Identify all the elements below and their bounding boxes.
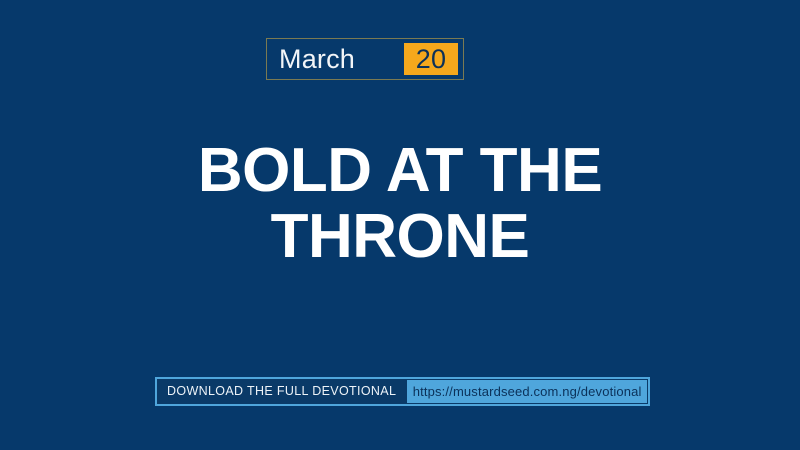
download-banner-label: DOWNLOAD THE FULL DEVOTIONAL xyxy=(157,379,407,404)
devotional-title-slide: March 20 BOLD AT THE THRONE DOWNLOAD THE… xyxy=(0,0,800,450)
page-title: BOLD AT THE THRONE xyxy=(0,138,800,269)
title-line-2: THRONE xyxy=(0,204,800,270)
date-badge: March 20 xyxy=(266,38,464,80)
date-day-badge: 20 xyxy=(404,43,458,75)
download-devotional-banner[interactable]: DOWNLOAD THE FULL DEVOTIONAL https://mus… xyxy=(155,377,650,406)
title-line-1: BOLD AT THE xyxy=(0,138,800,204)
date-month-label: March xyxy=(267,39,404,79)
devotional-url-link[interactable]: https://mustardseed.com.ng/devotional xyxy=(407,380,647,403)
